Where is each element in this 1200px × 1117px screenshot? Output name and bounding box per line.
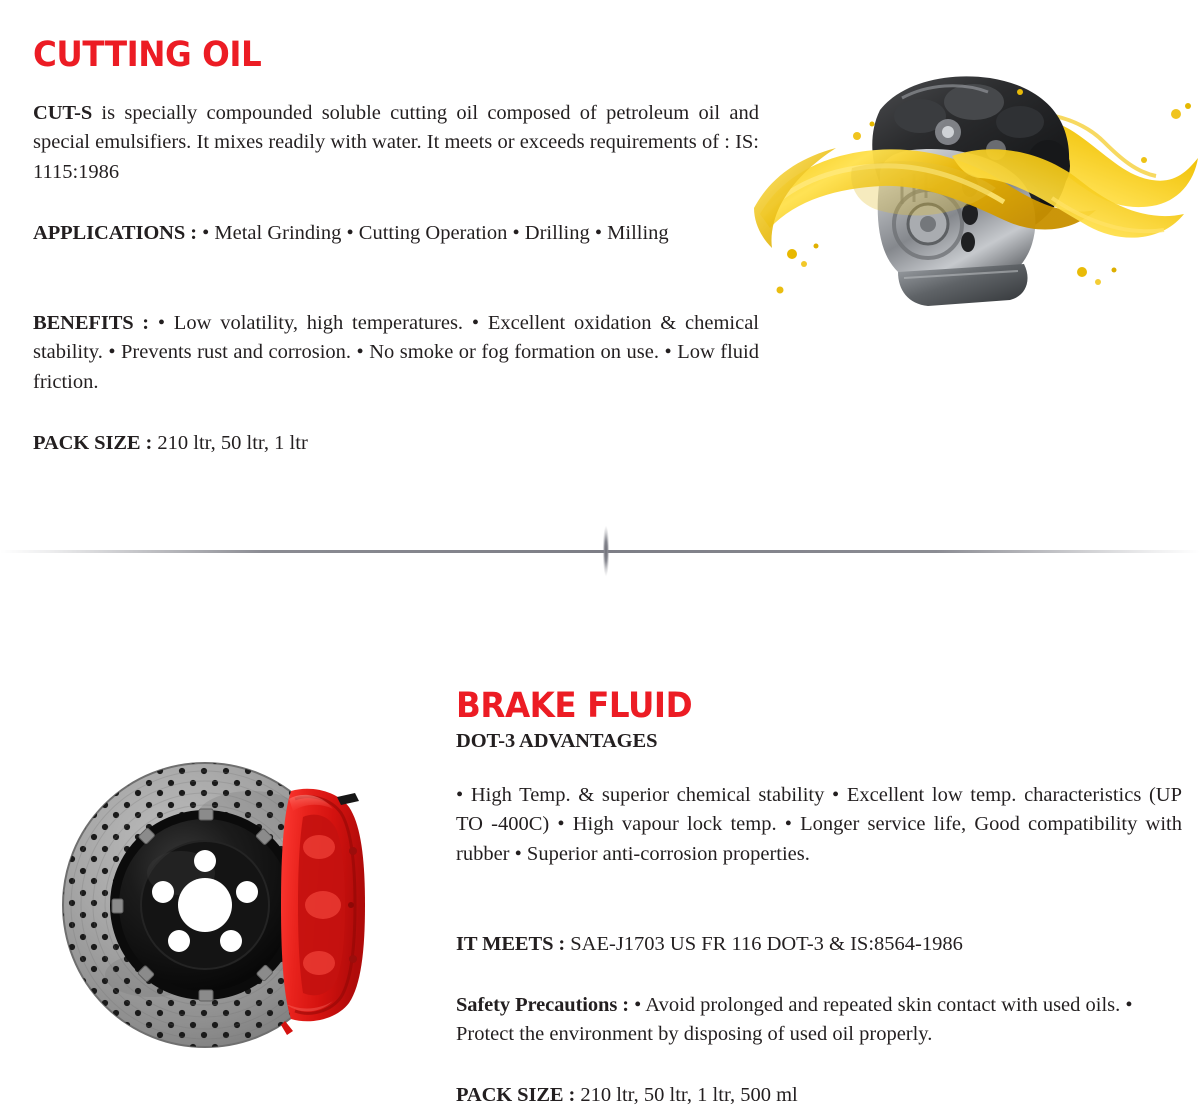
- cutting-oil-benefits-paragraph: BENEFITS : • Low volatility, high temper…: [33, 309, 759, 398]
- pack-size-label: PACK SIZE :: [33, 432, 152, 454]
- page-title-cutting-oil: CUTTING OIL: [33, 35, 261, 75]
- applications-label: APPLICATIONS :: [33, 222, 197, 244]
- brake-rotor-with-red-caliper-image: [55, 755, 385, 1055]
- section-divider: [0, 543, 1200, 559]
- brake-fluid-pack-size-paragraph: PACK SIZE : 210 ltr, 50 ltr, 1 ltr, 500 …: [456, 1081, 1182, 1111]
- cutting-oil-intro-text: is specially compounded soluble cutting …: [33, 102, 759, 183]
- safety-precautions-label: Safety Precautions :: [456, 994, 629, 1016]
- divider-spindle-ornament: [602, 521, 610, 581]
- pack-size-label: PACK SIZE :: [456, 1084, 575, 1106]
- cutting-oil-pack-size-paragraph: PACK SIZE : 210 ltr, 50 ltr, 1 ltr: [33, 429, 759, 459]
- product-code-cut-s: CUT-S: [33, 102, 92, 124]
- it-meets-value: SAE-J1703 US FR 116 DOT-3 & IS:8564-1986: [565, 933, 963, 955]
- engine-with-oil-splash-image: [752, 58, 1200, 320]
- divider-rule: [0, 550, 1200, 553]
- benefits-label: BENEFITS :: [33, 312, 149, 334]
- brake-fluid-safety-paragraph: Safety Precautions : • Avoid prolonged a…: [456, 991, 1182, 1050]
- cutting-oil-intro-paragraph: CUT-S is specially compounded soluble cu…: [33, 99, 759, 188]
- dot3-advantages-paragraph: • High Temp. & superior chemical stabili…: [456, 781, 1182, 870]
- dot3-advantages-subheading: DOT-3 ADVANTAGES: [456, 730, 657, 753]
- page-title-brake-fluid: BRAKE FLUID: [456, 686, 692, 726]
- brake-fluid-it-meets-paragraph: IT MEETS : SAE-J1703 US FR 116 DOT-3 & I…: [456, 930, 1182, 960]
- pack-size-value: 210 ltr, 50 ltr, 1 ltr: [152, 432, 308, 454]
- applications-list: • Metal Grinding • Cutting Operation • D…: [197, 222, 669, 244]
- cutting-oil-applications-paragraph: APPLICATIONS : • Metal Grinding • Cuttin…: [33, 219, 759, 249]
- pack-size-value: 210 ltr, 50 ltr, 1 ltr, 500 ml: [575, 1084, 797, 1106]
- it-meets-label: IT MEETS :: [456, 933, 565, 955]
